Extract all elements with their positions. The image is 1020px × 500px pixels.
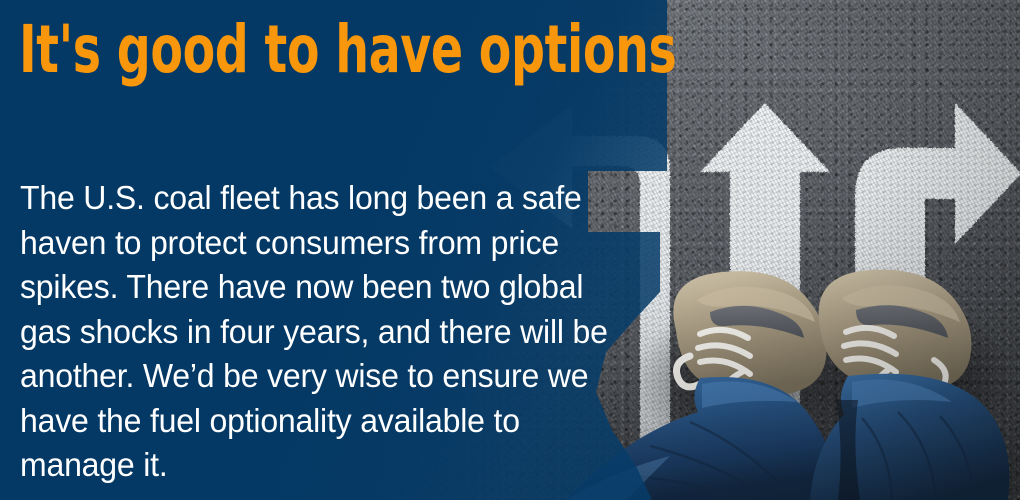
text-content: It's good to have options The U.S. coal …	[0, 0, 680, 500]
quote-body-text: The U.S. coal fleet has long been a safe…	[20, 176, 626, 488]
page-title: It's good to have options	[19, 14, 539, 86]
quote-graphic: It's good to have options The U.S. coal …	[0, 0, 1020, 500]
